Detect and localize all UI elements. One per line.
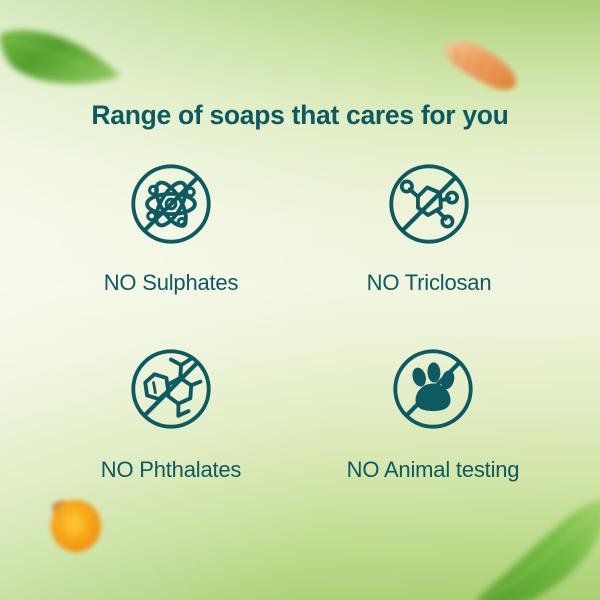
leaf-icon (0, 18, 126, 96)
feature-caption: NO Phthalates (101, 457, 241, 483)
feature-no-triclosan: NO Triclosan (308, 158, 550, 296)
feature-no-phthalates: NO Phthalates (50, 343, 292, 483)
no-animal-testing-paw-icon (387, 343, 479, 435)
page-title: Range of soaps that cares for you (0, 100, 600, 131)
feature-caption: NO Sulphates (104, 270, 239, 296)
no-sulphates-atom-icon (125, 158, 217, 250)
feature-caption: NO Triclosan (367, 270, 492, 296)
no-phthalates-benzene-icon (125, 343, 217, 435)
feature-no-animal-testing: NO Animal testing (312, 343, 554, 483)
feature-no-sulphates: NO Sulphates (50, 158, 292, 296)
feature-grid: NO Sulphates (58, 158, 542, 528)
poster: Range of soaps that cares for you (0, 0, 600, 600)
feature-caption: NO Animal testing (347, 457, 520, 483)
turmeric-root-icon (436, 34, 524, 96)
no-triclosan-molecule-icon (383, 158, 475, 250)
